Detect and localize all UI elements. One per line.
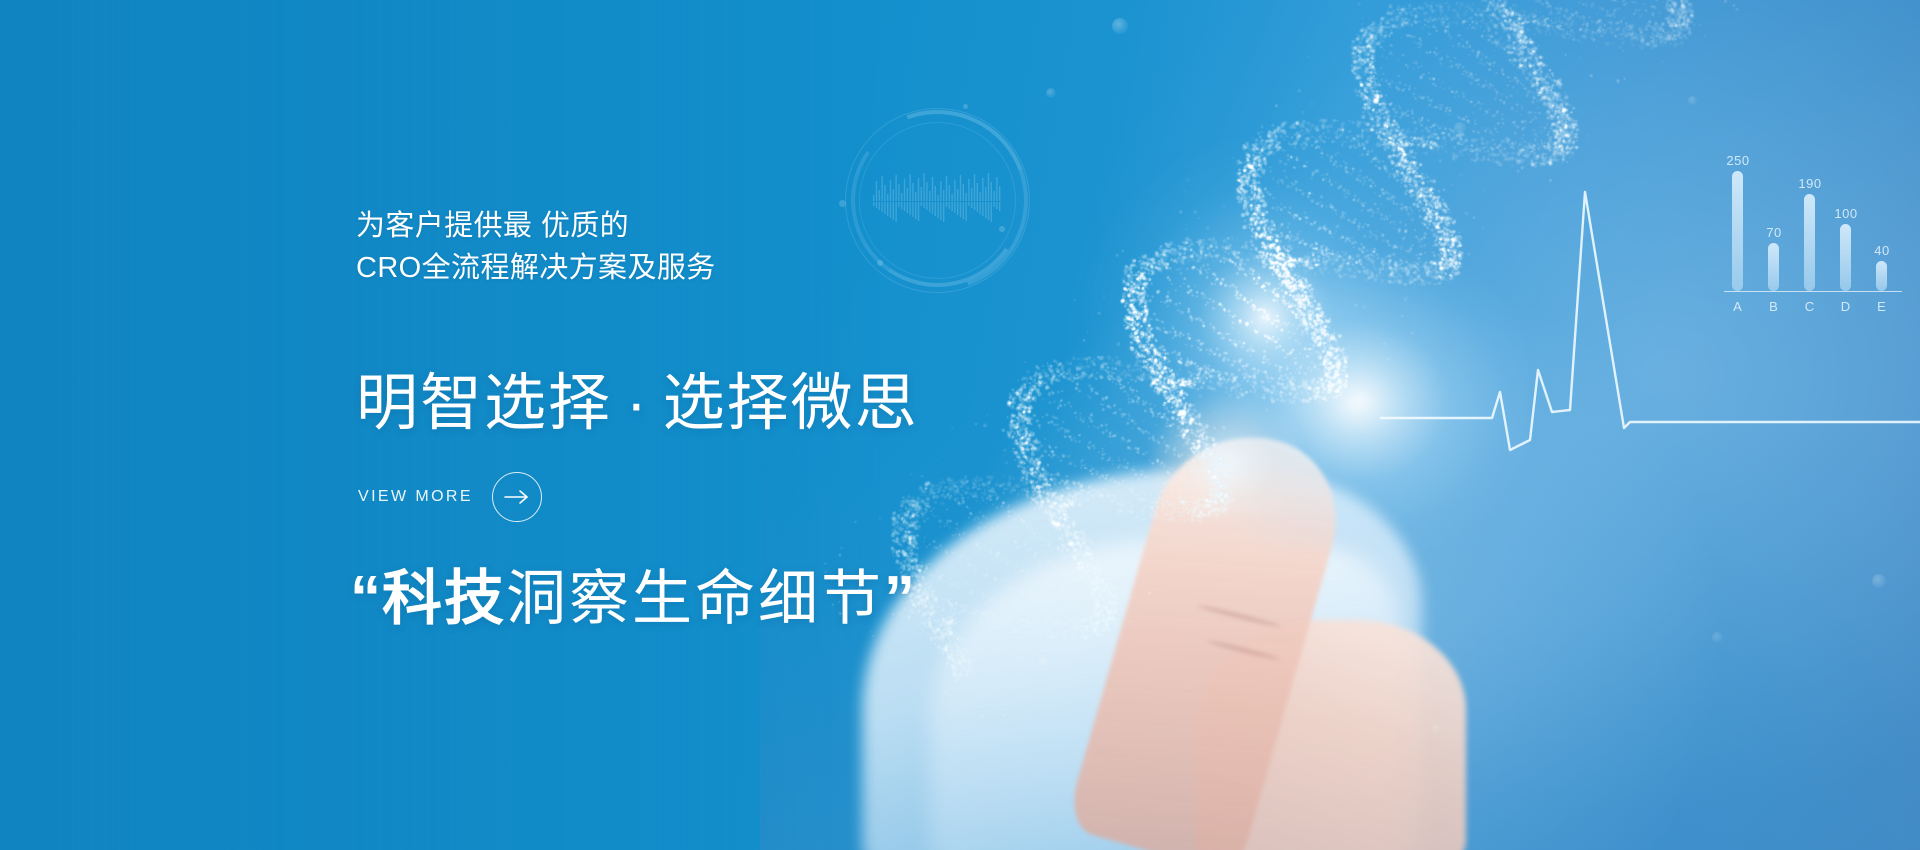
view-more-label: VIEW MORE [358,488,473,506]
hero-banner: 250 70 190 100 40 A B C D E 为客户提供最 优质的 C… [0,0,1920,850]
headline-separator: · [612,369,663,438]
slogan-quote: “科技洞察生命细节” [350,560,916,638]
headline-left: 明智选择 [356,369,612,438]
quote-light-text: 洞察生命细节 [506,565,884,632]
quote-close-mark: ” [884,564,916,633]
subtitle-line-1: 为客户提供最 优质的 [356,203,629,249]
hero-content: 为客户提供最 优质的 CRO全流程解决方案及服务 明智选择·选择微思 VIEW … [356,0,1116,850]
subtitle-line-2: CRO全流程解决方案及服务 [356,245,716,291]
page-title: 明智选择·选择微思 [356,369,919,439]
view-more-button[interactable]: VIEW MORE [358,472,542,522]
headline-right: 选择微思 [663,369,919,438]
arrow-right-icon[interactable] [492,472,542,522]
quote-strong-text: 科技 [382,565,506,632]
quote-open-mark: “ [350,564,382,633]
